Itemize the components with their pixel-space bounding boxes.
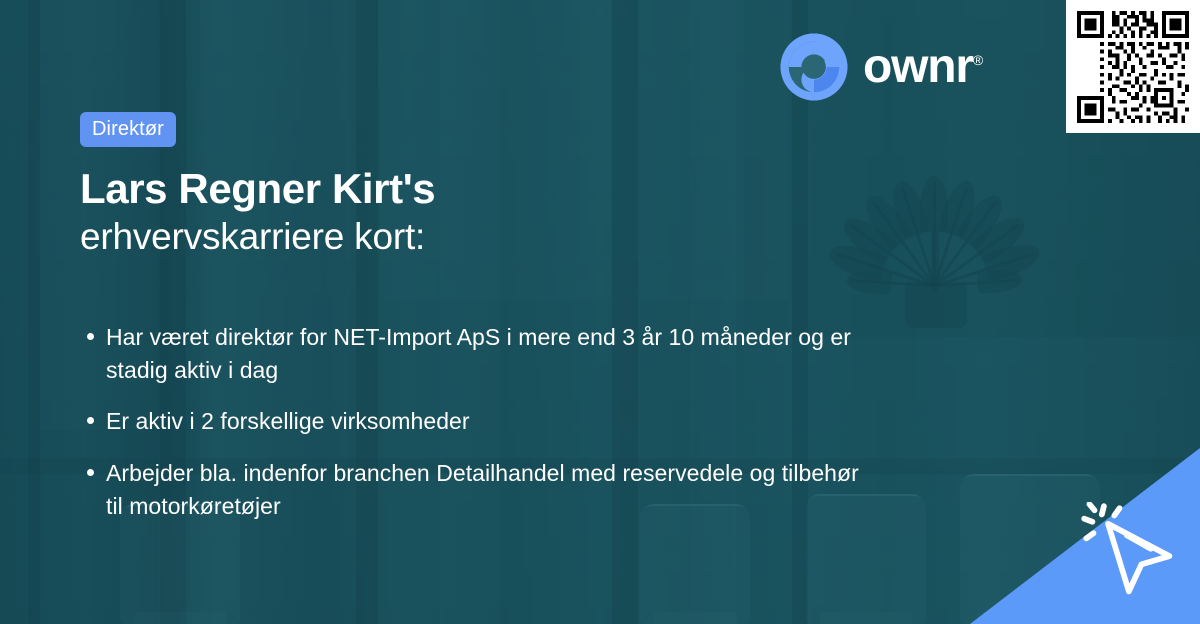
role-badge: Direktør xyxy=(80,112,176,147)
list-item: Har været direktør for NET-Import ApS i … xyxy=(80,321,880,386)
list-item: Arbejder bla. indenfor branchen Detailha… xyxy=(80,457,880,522)
qr-code-panel[interactable] xyxy=(1066,0,1200,133)
page-title: Lars Regner Kirt's xyxy=(80,167,940,212)
page-subtitle: erhvervskarriere kort: xyxy=(80,216,940,257)
mouse-cursor-click-icon xyxy=(1078,502,1186,606)
list-item: Er aktiv i 2 forskellige virksomheder xyxy=(80,405,880,438)
business-career-card: ownr® xyxy=(0,0,1200,624)
qr-code-icon[interactable] xyxy=(1077,11,1189,123)
ownr-swirl-logo-icon xyxy=(779,32,849,102)
card-content: Direktør Lars Regner Kirt's erhvervskarr… xyxy=(80,112,940,541)
ownr-wordmark: ownr® xyxy=(863,43,983,91)
ownr-logo: ownr® xyxy=(779,32,983,102)
registered-mark: ® xyxy=(973,52,983,68)
ownr-wordmark-text: ownr xyxy=(863,40,973,93)
career-facts-list: Har været direktør for NET-Import ApS i … xyxy=(80,321,940,522)
